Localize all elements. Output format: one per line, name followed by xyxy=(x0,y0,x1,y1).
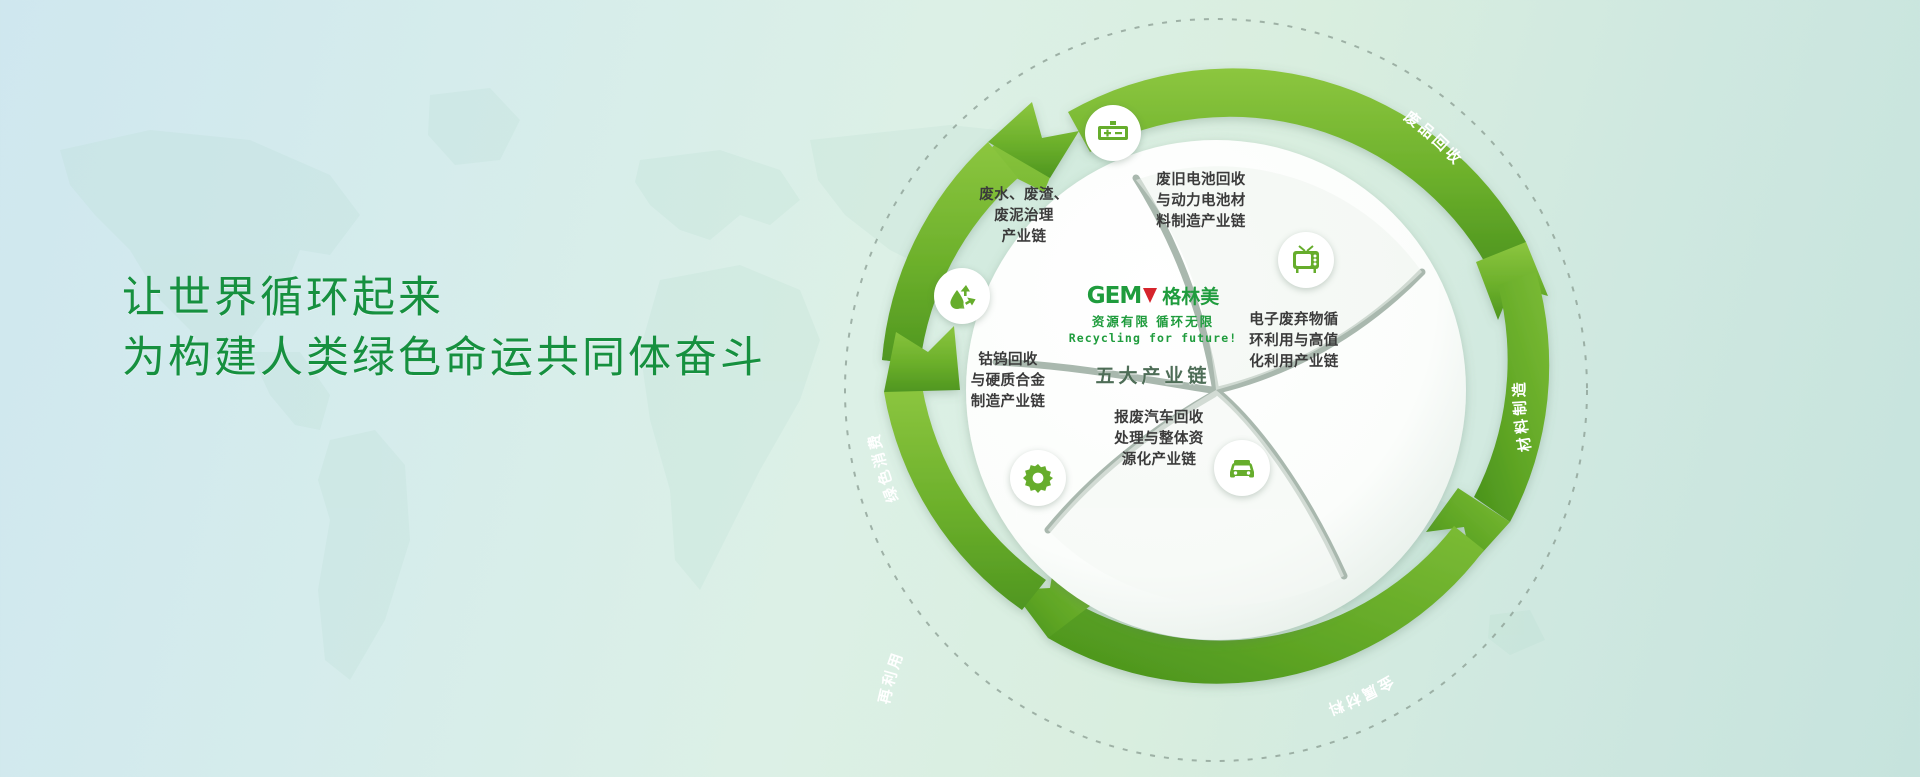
five-industry-chain-diagram: 再利用 废品回收 材料制造 金属材料 绿色消费 xyxy=(836,10,1596,770)
segment-label-ewaste: 电子废弃物循 环利用与高值 化利用产业链 xyxy=(1234,310,1354,373)
segment-label-water: 废水、废渣、 废泥治理 产业链 xyxy=(964,185,1084,248)
headline-line-2: 为构建人类绿色命运共同体奋斗 xyxy=(122,328,882,388)
headline-line-1: 让世界循环起来 xyxy=(122,268,882,328)
center-subtitle: 五大产业链 xyxy=(1068,361,1238,388)
brand-triangle-icon xyxy=(1143,288,1157,303)
gear-icon[interactable] xyxy=(1010,450,1066,506)
brand-lockup: GEM 格林美 xyxy=(1068,282,1238,309)
brand-latin-text: GEM xyxy=(1087,283,1141,309)
television-icon[interactable] xyxy=(1278,232,1334,288)
center-logo-block: GEM 格林美 资源有限 循环无限 Recycling for future! … xyxy=(1068,282,1238,388)
headline-block: 让世界循环起来 为构建人类绿色命运共同体奋斗 xyxy=(122,268,882,388)
car-icon[interactable] xyxy=(1214,440,1270,496)
segment-label-battery: 废旧电池回收 与动力电池材 料制造产业链 xyxy=(1136,170,1266,233)
recycle-drop-icon[interactable] xyxy=(934,268,990,324)
brand-slogan-en: Recycling for future! xyxy=(1068,331,1238,345)
ring-label-metal: 金属材料 xyxy=(1323,672,1397,720)
brand-cn-text: 格林美 xyxy=(1162,282,1219,309)
battery-icon[interactable] xyxy=(1085,105,1141,161)
brand-slogan-cn: 资源有限 循环无限 xyxy=(1068,311,1238,330)
segment-label-cobalt: 钴钨回收 与硬质合金 制造产业链 xyxy=(948,350,1068,413)
ring-label-reuse: 再利用 xyxy=(875,648,907,705)
segment-label-car: 报废汽车回收 处理与整体资 源化产业链 xyxy=(1094,408,1224,471)
